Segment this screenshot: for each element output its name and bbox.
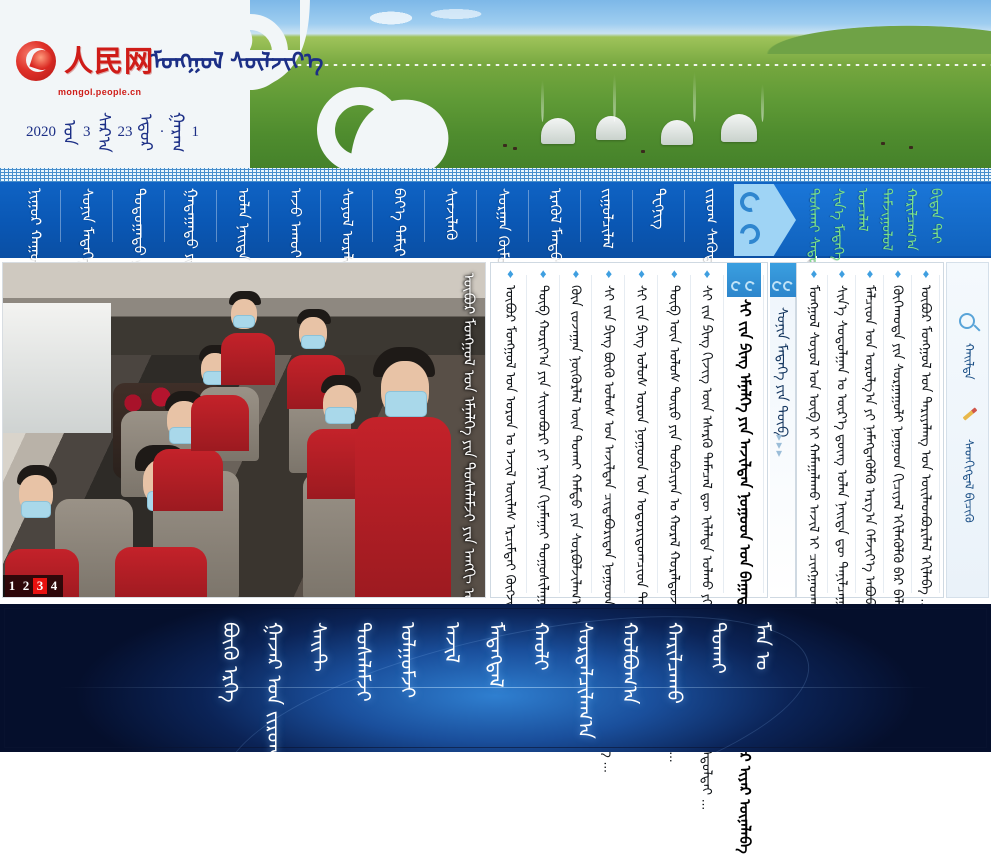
smoke-plume bbox=[613, 74, 616, 122]
main-content: ᠥᠪᠥᠷ ᠮᠣᠩᠭᠣᠯ ᠤᠨ ᠡᠮᠨᠡᠯᠭᠡ ᠶᠢᠨ ᠲᠤᠰᠠᠯᠠᠮᠵᠢ ᠶᠢᠨ… bbox=[0, 260, 991, 600]
date-separator: · bbox=[160, 124, 165, 141]
date-day-suffix: ᠡᠳᠦᠷ bbox=[138, 114, 155, 151]
news-item-6[interactable]: ♦ᠥᠪᠥᠷ ᠮᠣᠩᠭᠣᠯ ᠤᠨ ᠣᠷᠣᠨ ᠤ ᠠᠵᠢᠯ ᠦᠢᠯᠡᠰ ᠡᠷᠴᠢᠮᠲ… bbox=[495, 269, 526, 589]
write-comment-button[interactable]: ᠰᠡᠳᠬᠢᠭᠳᠡᠯ ᠪᠢᠴᠢᠬᠦ bbox=[947, 435, 990, 523]
column-separator bbox=[591, 275, 592, 593]
yurt-icon bbox=[661, 120, 693, 145]
yurt-icon bbox=[721, 114, 757, 142]
main-news-panel: ᠰᠢ ᠵᠢᠨ ᠫᠢᠩ ᠡᠮᠨᠡᠯᠭᠡ ᠶᠢᠨ ᠠᠵᠢᠯᠲᠠᠨ ᠨᠤᠭᠤᠳ ᠤᠨ … bbox=[490, 262, 768, 598]
smoke-plume bbox=[761, 84, 764, 122]
tool-rail: ᠬᠠᠢᠯᠲᠠ ᠰᠡᠳᠬᠢᠭᠳᠡᠯ ᠪᠢᠴᠢᠬᠦ bbox=[946, 262, 989, 598]
logo-chinese-text: 人民网 bbox=[64, 47, 154, 76]
swirl-icon bbox=[736, 220, 764, 248]
swirl-icon bbox=[782, 280, 795, 293]
smoke-plume bbox=[693, 72, 696, 122]
nav-item-4[interactable]: ᠣᠯᠠᠨ ᠨᠡᠢᠲᠡ bbox=[216, 184, 268, 254]
side-news-item-3[interactable]: ♦ᠰᠢᠨ᠎ᠡ ᠰᠤᠳᠤᠯᠭᠠᠨ ᠤ ᠦᠷ᠎ᠡ ᠳ᠋ᠦᠩ ᠣᠯᠠᠨ ᠨᠡᠢᠲᠡ ᠳ… bbox=[829, 269, 855, 589]
footer-link-10[interactable]: ᠰᠠᠢᠲ bbox=[307, 622, 329, 672]
news-item-5[interactable]: ♦ᠲᠥᠪ ᠬᠣᠷᠢᠶ᠎ᠠ ᠶᠢᠨ ᠰᠢᠢᠳᠪᠦᠷᠢ ᠶᠢ ᠨᠠᠷᠢᠨ ᠬᠢᠨᠠᠮ… bbox=[528, 269, 559, 589]
news-item-text: ᠲᠥᠪ ᠦᠨ ᠤᠯᠤᠰ ᠲᠥᠷᠥ ᠶᠢᠨ ᠲᠣᠪᠴᠢᠶᠠᠨ ᠤ ᠬᠤᠷᠠᠯ ᠬᠤ… bbox=[667, 285, 682, 589]
section-title: ᠰᠣᠨᠢᠨ ᠮᠡᠳᠡᠭᠡ ᠶᠢᠨ ᠲᠥᠪ bbox=[774, 307, 789, 437]
pencil-icon bbox=[960, 409, 978, 427]
photo-page-2[interactable]: 2 bbox=[19, 578, 33, 594]
site-header: 人民网 ᠮᠣᠩᠭᠣᠯ ᠰᠦᠯᠵᠢᠶ᠎ᠡ mongol.people.cn 202… bbox=[0, 0, 991, 168]
date-month-suffix: ᠰᠠᠷ᠎ᠠ bbox=[96, 112, 113, 153]
more-chevron-icon[interactable]: ▾▾▾ bbox=[776, 433, 782, 457]
bus-window bbox=[3, 303, 111, 433]
smoke-plume bbox=[541, 80, 544, 122]
column-separator bbox=[763, 275, 764, 593]
main-news-columns: ᠰᠢ ᠵᠢᠨ ᠫᠢᠩ ᠡᠮᠨᠡᠯᠭᠡ ᠶᠢᠨ ᠠᠵᠢᠯᠲᠠᠨ ᠨᠤᠭᠤᠳ ᠤᠨ … bbox=[491, 263, 767, 597]
footer-link-5[interactable]: ᠬᠠᠤᠯᠢ bbox=[529, 622, 551, 671]
yurt-icon bbox=[541, 118, 575, 144]
people-daily-logo-icon bbox=[16, 41, 56, 81]
date-day: 23 bbox=[118, 124, 133, 141]
main-navigation: ᠨᠢᠭᠤᠷ ᠬᠠᠭᠤᠳᠠᠰᠤᠰᠣᠨᠢᠨ ᠮᠡᠳᠡᠭᠡᠳᠣᠲᠣᠭᠠᠳᠤ ᠶᠢᠨᠭᠠ… bbox=[0, 182, 991, 258]
search-icon bbox=[959, 313, 975, 329]
nav-item-0[interactable]: ᠨᠢᠭᠤᠷ ᠬᠠᠭᠤᠳᠠᠰᠤ bbox=[8, 184, 60, 254]
weekday-label: ᠭᠠᠷᠠᠭ bbox=[170, 112, 187, 152]
bullet-arrow-icon: ♦ bbox=[638, 269, 645, 279]
footer-link-8[interactable]: ᠣᠯᠭᠤᠮᠵᠢ bbox=[396, 622, 418, 698]
yurt-icon bbox=[411, 130, 437, 150]
nav-highlight-item-0[interactable]: ᠲᠤᠰᠬᠠᠢ ᠰᠡᠳᠦᠪ bbox=[806, 188, 821, 254]
column-separator bbox=[657, 275, 658, 593]
news-item-0[interactable]: ♦ᠰᠢ ᠵᠢᠨ ᠫᠢᠩ ᠬᠢᠵᠢᠭ ᠦᠨ ᠡᠰᠡᠷᠭᠦ ᠲᠡᠮᠡᠴᠡᠯ ᠳᠦ ᠢ… bbox=[692, 269, 723, 589]
side-news-panel: ♦ᠥᠪᠥᠷ ᠮᠣᠩᠭᠣᠯ ᠤᠨ ᠲᠠᠷᠢᠶᠠᠯᠠᠩ ᠤᠨ ᠦᠢᠯᠡᠳᠪᠦᠷᠢᠯᠡ… bbox=[796, 262, 944, 598]
nav-highlight-item-4[interactable]: ᠬᠠᠷᠢᠯᠴᠠᠭ᠎ᠠ bbox=[904, 188, 919, 254]
date-year-suffix: ᠣᠨ bbox=[61, 120, 78, 145]
date-month: 3 bbox=[83, 124, 91, 141]
footer-link-6[interactable]: ᠮᠡᠳᠡᠭᠳᠡᠯ bbox=[484, 622, 506, 688]
nav-item-8[interactable]: ᠰᠢᠨᠵᠢᠯᠡᠬᠦ bbox=[424, 184, 476, 254]
side-news-item-2[interactable]: ♦ᠮᠠᠯᠴᠢᠳ ᠤᠨ ᠣᠷᠣᠯᠭ᠎ᠠ ᠶᠢ ᠨᠡᠮᠡᠭᠳᠡᠭᠦᠯᠬᠦ ᠠᠷᠭ᠎ᠠ… bbox=[857, 269, 883, 589]
news-item-1[interactable]: ♦ᠲᠥᠪ ᠦᠨ ᠤᠯᠤᠰ ᠲᠥᠷᠥ ᠶᠢᠨ ᠲᠣᠪᠴᠢᠶᠠᠨ ᠤ ᠬᠤᠷᠠᠯ ᠬ… bbox=[659, 269, 690, 589]
photo-caption: ᠥᠪᠥᠷ ᠮᠣᠩᠭᠣᠯ ᠤᠨ ᠡᠮᠨᠡᠯᠭᠡ ᠶᠢᠨ ᠲᠤᠰᠠᠯᠠᠮᠵᠢ ᠶᠢᠨ… bbox=[460, 273, 477, 573]
nav-item-2[interactable]: ᠳᠣᠲᠣᠭᠠᠳᠤ ᠶᠢᠨ bbox=[112, 184, 164, 254]
nav-item-label: ᠣᠯᠠᠨ ᠨᠡᠢᠲᠡ bbox=[234, 188, 251, 260]
news-item-text: ᠲᠥᠪ ᠬᠣᠷᠢᠶ᠎ᠠ ᠶᠢᠨ ᠰᠢᠢᠳᠪᠦᠷᠢ ᠶᠢ ᠨᠠᠷᠢᠨ ᠬᠢᠨᠠᠮᠠ… bbox=[536, 285, 551, 589]
footer-link-0[interactable]: ᠮᠠᠨ ᠤ bbox=[751, 622, 773, 670]
footer-link-9[interactable]: ᠲᠤᠰᠠᠯᠠᠮᠵᠢ bbox=[351, 622, 373, 702]
footer-link-11[interactable]: ᠭᠠᠵᠠᠷ ᠤᠨ ᠵᠢᠷᠤᠭ bbox=[262, 622, 284, 752]
nav-highlight-item-2[interactable]: ᠣᠨᠴᠠᠯᠠᠯ bbox=[855, 188, 870, 254]
side-news-item-0[interactable]: ♦ᠥᠪᠥᠷ ᠮᠣᠩᠭᠣᠯ ᠤᠨ ᠲᠠᠷᠢᠶᠠᠯᠠᠩ ᠤᠨ ᠦᠢᠯᠡᠳᠪᠦᠷᠢᠯᠡ… bbox=[913, 269, 939, 589]
nav-item-label: ᠠᠵᠤ ᠠᠬᠤᠢ bbox=[286, 188, 303, 258]
news-item-text: ᠥᠪᠥᠷ ᠮᠣᠩᠭᠣᠯ ᠤᠨ ᠣᠷᠣᠨ ᠤ ᠠᠵᠢᠯ ᠦᠢᠯᠡᠰ ᠡᠷᠴᠢᠮᠲᠡ… bbox=[503, 285, 518, 589]
horse-figure bbox=[513, 147, 517, 150]
photo-page-4[interactable]: 4 bbox=[47, 578, 61, 594]
photo-caption-text: ᠥᠪᠥᠷ ᠮᠣᠩᠭᠣᠯ ᠤᠨ ᠡᠮᠨᠡᠯᠭᠡ ᠶᠢᠨ ᠲᠤᠰᠠᠯᠠᠮᠵᠢ ᠶᠢᠨ… bbox=[460, 273, 477, 573]
nav-item-label: ᠵᠢᠭᠤᠯᠴᠢᠯᠠᠯ bbox=[598, 188, 615, 249]
news-item-4[interactable]: ♦ᠭᠦᠨ ᠵᠤᠵᠠᠭᠠᠨ ᠨᠥᠬᠥᠷᠯᠡᠯ ᠦᠨ ᠲᠤᠬᠠᠢ ᠬᠠᠮᠲᠤ ᠶᠢᠨ… bbox=[561, 269, 592, 589]
headline-text: ᠰᠢ ᠵᠢᠨ ᠫᠢᠩ ᠡᠮᠨᠡᠯᠭᠡ ᠶᠢᠨ ᠠᠵᠢᠯᠲᠠᠨ ᠨᠤᠭᠤᠳ ᠤᠨ … bbox=[735, 299, 752, 589]
nav-item-label: ᠡᠷᠡᠭᠦᠯ ᠮᠡᠨᠳᠦ bbox=[546, 188, 563, 262]
nav-item-label: ᠰᠣᠨᠢᠨ ᠮᠡᠳᠡᠭᠡ bbox=[78, 188, 95, 267]
side-news-columns: ♦ᠥᠪᠥᠷ ᠮᠣᠩᠭᠣᠯ ᠤᠨ ᠲᠠᠷᠢᠶᠠᠯᠠᠩ ᠤᠨ ᠦᠢᠯᠡᠳᠪᠦᠷᠢᠯᠡ… bbox=[797, 263, 943, 597]
cattle-figure bbox=[881, 142, 885, 145]
footer-link-3[interactable]: ᠬᠣᠯᠪᠣᠭ᠎ᠠ bbox=[617, 622, 639, 704]
weekday-number: 1 bbox=[192, 124, 200, 141]
footer-link-1[interactable]: ᠲᠤᠬᠠᠢ bbox=[706, 622, 728, 674]
section-header-cap bbox=[770, 263, 796, 297]
news-item-text: ᠰᠢᠨ᠎ᠡ ᠰᠤᠳᠤᠯᠭᠠᠨ ᠤ ᠦᠷ᠎ᠡ ᠳ᠋ᠦᠩ ᠣᠯᠠᠨ ᠨᠡᠢᠲᠡ ᠳᠦ… bbox=[834, 285, 849, 589]
footer-link-4[interactable]: ᠰᠤᠷᠲᠠᠯᠴᠢᠯᠠᠭ᠎ᠠ bbox=[573, 622, 595, 739]
write-label: ᠰᠡᠳᠬᠢᠭᠳᠡᠯ ᠪᠢᠴᠢᠬᠦ bbox=[962, 439, 975, 523]
section-header: ᠰᠣᠨᠢᠨ ᠮᠡᠳᠡᠭᠡ ᠶᠢᠨ ᠲᠥᠪ ▾▾▾ bbox=[770, 262, 796, 598]
feature-photo-panel[interactable]: ᠥᠪᠥᠷ ᠮᠣᠩᠭᠣᠯ ᠤᠨ ᠡᠮᠨᠡᠯᠭᠡ ᠶᠢᠨ ᠲᠤᠰᠠᠯᠠᠮᠵᠢ ᠶᠢᠨ… bbox=[2, 262, 486, 598]
news-item-2[interactable]: ♦ᠰᠢ ᠵᠢᠨ ᠫᠢᠩ ᠤᠯᠤᠰ ᠣᠷᠣᠨ ᠨᠤᠭᠤᠳ ᠤᠨ ᠤᠳᠤᠷᠢᠳᠤᠭᠴ… bbox=[626, 269, 657, 589]
news-item-text: ᠥᠪᠥᠷ ᠮᠣᠩᠭᠣᠯ ᠤᠨ ᠲᠠᠷᠢᠶᠠᠯᠠᠩ ᠤᠨ ᠦᠢᠯᠡᠳᠪᠦᠷᠢᠯᠡᠯ… bbox=[918, 285, 933, 589]
nav-highlight-item-1[interactable]: ᠰᠢᠨ᠎ᠡ ᠮᠡᠳᠡᠭᠡ bbox=[830, 188, 845, 254]
nav-item-label: ᠰᠢᠨᠵᠢᠯᠡᠬᠦ bbox=[442, 188, 459, 240]
site-logo[interactable]: 人民网 ᠮᠣᠩᠭᠣᠯ ᠰᠦᠯᠵᠢᠶ᠎ᠡ mongol.people.cn bbox=[16, 38, 186, 97]
photo-page-1[interactable]: 1 bbox=[5, 578, 19, 594]
photo-pager[interactable]: 1234 bbox=[3, 575, 63, 597]
nav-item-1[interactable]: ᠰᠣᠨᠢᠨ ᠮᠡᠳᠡᠭᠡ bbox=[60, 184, 112, 254]
footer-link-list: ᠮᠠᠨ ᠤᠲᠤᠬᠠᠢᠬᠠᠷᠢᠯᠴᠠᠬᠤᠬᠣᠯᠪᠣᠭ᠎ᠠᠰᠤᠷᠲᠠᠯᠴᠢᠯᠠᠭ᠎ᠠ… bbox=[0, 622, 991, 742]
photo-page-3[interactable]: 3 bbox=[33, 578, 47, 594]
nav-item-12[interactable]: ᠲᠧᠭᠨᠢᠭ bbox=[632, 184, 684, 254]
news-item-3[interactable]: ♦ᠰᠢ ᠵᠢᠨ ᠫᠢᠩ ᠪᠦᠬᠦ ᠤᠯᠤᠰ ᠤᠨ ᠠᠵᠢᠯᠲᠠᠨ ᠴᠢᠳᠠᠪᠤᠷ… bbox=[593, 269, 624, 589]
news-item-text: ᠰᠢ ᠵᠢᠨ ᠫᠢᠩ ᠪᠦᠬᠦ ᠤᠯᠤᠰ ᠤᠨ ᠠᠵᠢᠯᠲᠠᠨ ᠴᠢᠳᠠᠪᠤᠷᠢ… bbox=[601, 285, 616, 589]
nav-item-label: ᠪᠡᠶ᠎ᠡ ᠲᠠᠮᠢᠷ bbox=[390, 188, 407, 257]
column-separator bbox=[883, 275, 884, 593]
nav-item-6[interactable]: ᠰᠣᠶᠣᠯ ᠤᠷᠠᠯᠢᠭ bbox=[320, 184, 372, 254]
bullet-arrow-icon: ♦ bbox=[605, 269, 612, 279]
cattle-figure bbox=[909, 146, 913, 149]
side-news-item-1[interactable]: ♦ᠬᠥᠬᠡᠬᠣᠲᠠ ᠶᠢᠨ ᠰᠤᠷᠭᠠᠭᠤᠯᠢ ᠨᠤᠭᠤᠳ ᠬᠢᠴᠢᠶᠡᠯ ᠡᠬ… bbox=[885, 269, 911, 589]
nav-item-9[interactable]: ᠰᠤᠷᠭᠠᠨ ᠬᠦᠮᠦᠵᠢᠯ bbox=[476, 184, 528, 254]
nav-highlight-item-3[interactable]: ᠳᠠᠮᠵᠢᠭᠤᠯᠤᠯ bbox=[879, 188, 894, 254]
nav-highlight-section: ᠲᠤᠰᠬᠠᠢ ᠰᠡᠳᠦᠪᠰᠢᠨ᠎ᠡ ᠮᠡᠳᠡᠭᠡᠣᠨᠴᠠᠯᠠᠯᠳᠠᠮᠵᠢᠭᠤᠯᠤ… bbox=[736, 184, 991, 256]
footer-link-12[interactable]: ᠪᠦᠬᠦ ᠡᠷᠬᠡ bbox=[218, 622, 240, 703]
column-separator bbox=[939, 275, 940, 593]
horse-figure bbox=[503, 144, 507, 147]
footer-link-2[interactable]: ᠬᠠᠷᠢᠯᠴᠠᠬᠤ bbox=[662, 622, 684, 704]
nav-arrow-tab bbox=[734, 184, 796, 256]
swirl-icon bbox=[743, 280, 756, 293]
column-separator bbox=[624, 275, 625, 593]
swirl-icon bbox=[729, 280, 742, 293]
column-separator bbox=[827, 275, 828, 593]
date-year: 2020 bbox=[26, 124, 56, 141]
bullet-arrow-icon: ♦ bbox=[704, 269, 711, 279]
swirl-icon bbox=[736, 188, 763, 215]
nav-highlight-list: ᠲᠤᠰᠬᠠᠢ ᠰᠡᠳᠦᠪᠰᠢᠨ᠎ᠡ ᠮᠡᠳᠡᠭᠡᠣᠨᠴᠠᠯᠠᠯᠳᠠᠮᠵᠢᠭᠤᠯᠤ… bbox=[806, 188, 943, 254]
side-news-item-4[interactable]: ♦ᠮᠣᠩᠭᠣᠯ ᠰᠤᠶᠤᠯ ᠤᠨ ᠥᠪ ᠢ ᠬᠠᠮᠠᠭᠠᠯᠠᠬᠤ ᠠᠵᠢᠯ ᠢ … bbox=[801, 269, 827, 589]
news-item-text: ᠭᠦᠨ ᠵᠤᠵᠠᠭᠠᠨ ᠨᠥᠬᠥᠷᠯᠡᠯ ᠦᠨ ᠲᠤᠬᠠᠢ ᠬᠠᠮᠲᠤ ᠶᠢᠨ … bbox=[568, 285, 583, 589]
horse-figure bbox=[641, 150, 645, 153]
column-separator bbox=[911, 275, 912, 593]
nav-item-10[interactable]: ᠡᠷᠡᠭᠦᠯ ᠮᠡᠨᠳᠦ bbox=[528, 184, 580, 254]
dateline: 2020 ᠣᠨ 3 ᠰᠠᠷ᠎ᠠ 23 ᠡᠳᠦᠷ · ᠭᠠᠷᠠᠭ 1 bbox=[26, 112, 199, 153]
column-separator bbox=[559, 275, 560, 593]
nav-item-11[interactable]: ᠵᠢᠭᠤᠯᠴᠢᠯᠠᠯ bbox=[580, 184, 632, 254]
column-separator bbox=[855, 275, 856, 593]
meander-border bbox=[0, 168, 991, 182]
column-separator bbox=[723, 275, 724, 593]
sky-clouds bbox=[361, 4, 511, 34]
footer-banner: ᠮᠠᠨ ᠤᠲᠤᠬᠠᠢᠬᠠᠷᠢᠯᠴᠠᠬᠤᠬᠣᠯᠪᠣᠭ᠎ᠠᠰᠤᠷᠲᠠᠯᠴᠢᠯᠠᠭ᠎ᠠ… bbox=[0, 604, 991, 752]
logo-mongolian-text: ᠮᠣᠩᠭᠣᠯ ᠰᠦᠯᠵᠢᠶ᠎ᠡ bbox=[151, 49, 197, 73]
news-item-text: ᠮᠠᠯᠴᠢᠳ ᠤᠨ ᠣᠷᠣᠯᠭ᠎ᠠ ᠶᠢ ᠨᠡᠮᠡᠭᠳᠡᠭᠦᠯᠬᠦ ᠠᠷᠭ᠎ᠠ … bbox=[862, 285, 877, 589]
bullet-arrow-icon: ♦ bbox=[811, 269, 818, 279]
column-separator bbox=[526, 275, 527, 593]
yurt-icon bbox=[596, 116, 626, 140]
footer-link-7[interactable]: ᠠᠵᠢᠯ bbox=[440, 622, 462, 663]
swirl-icon bbox=[771, 280, 784, 293]
header-banner-photo bbox=[241, 0, 991, 168]
headline-cap bbox=[727, 263, 761, 297]
nav-highlight-item-5[interactable]: ᠪᠢᠳᠡᠨ ᠲᠠᠢ bbox=[928, 188, 943, 254]
search-label: ᠬᠠᠢᠯᠲᠠ bbox=[962, 343, 975, 380]
nav-item-label: ᠭᠠᠳᠠᠭᠠᠳᠤ ᠶᠢᠨ bbox=[182, 188, 199, 271]
news-item-text: ᠮᠣᠩᠭᠣᠯ ᠰᠤᠶᠤᠯ ᠤᠨ ᠥᠪ ᠢ ᠬᠠᠮᠠᠭᠠᠯᠠᠬᠤ ᠠᠵᠢᠯ ᠢ ᠴ… bbox=[806, 285, 821, 589]
bullet-arrow-icon: ♦ bbox=[507, 269, 514, 279]
news-item-text: ᠰᠢ ᠵᠢᠨ ᠫᠢᠩ ᠤᠯᠤᠰ ᠣᠷᠣᠨ ᠨᠤᠭᠤᠳ ᠤᠨ ᠤᠳᠤᠷᠢᠳᠤᠭᠴᠢ… bbox=[634, 285, 649, 589]
bullet-arrow-icon: ♦ bbox=[573, 269, 580, 279]
search-button[interactable]: ᠬᠠᠢᠯᠲᠠ bbox=[947, 339, 990, 380]
nav-item-label: ᠲᠧᠭᠨᠢᠭ bbox=[650, 188, 667, 230]
column-separator bbox=[690, 275, 691, 593]
bullet-arrow-icon: ♦ bbox=[839, 269, 846, 279]
bus-interior-photo bbox=[3, 263, 485, 597]
nav-item-7[interactable]: ᠪᠡᠶ᠎ᠡ ᠲᠠᠮᠢᠷ bbox=[372, 184, 424, 254]
logo-domain-text: mongol.people.cn bbox=[58, 87, 186, 97]
bullet-arrow-icon: ♦ bbox=[540, 269, 547, 279]
bullet-arrow-icon: ♦ bbox=[671, 269, 678, 279]
news-item-text: ᠰᠢ ᠵᠢᠨ ᠫᠢᠩ ᠬᠢᠵᠢᠭ ᠦᠨ ᠡᠰᠡᠷᠭᠦ ᠲᠡᠮᠡᠴᠡᠯ ᠳᠦ ᠢᠯ… bbox=[700, 285, 715, 589]
bullet-arrow-icon: ♦ bbox=[895, 269, 902, 279]
bullet-arrow-icon: ♦ bbox=[867, 269, 874, 279]
nav-item-3[interactable]: ᠭᠠᠳᠠᠭᠠᠳᠤ ᠶᠢᠨ bbox=[164, 184, 216, 254]
headline-column[interactable]: ᠰᠢ ᠵᠢᠨ ᠫᠢᠩ ᠡᠮᠨᠡᠯᠭᠡ ᠶᠢᠨ ᠠᠵᠢᠯᠲᠠᠨ ᠨᠤᠭᠤᠳ ᠤᠨ … bbox=[725, 269, 763, 589]
news-item-text: ᠬᠥᠬᠡᠬᠣᠲᠠ ᠶᠢᠨ ᠰᠤᠷᠭᠠᠭᠤᠯᠢ ᠨᠤᠭᠤᠳ ᠬᠢᠴᠢᠶᠡᠯ ᠡᠬᠢ… bbox=[890, 285, 905, 589]
nav-item-13[interactable]: ᠵᠢᠷᠤᠭ ᠰᠡᠭᠦᠳᠡᠷ bbox=[684, 184, 736, 254]
nav-item-5[interactable]: ᠠᠵᠤ ᠠᠬᠤᠢ bbox=[268, 184, 320, 254]
bullet-arrow-icon: ♦ bbox=[923, 269, 930, 279]
